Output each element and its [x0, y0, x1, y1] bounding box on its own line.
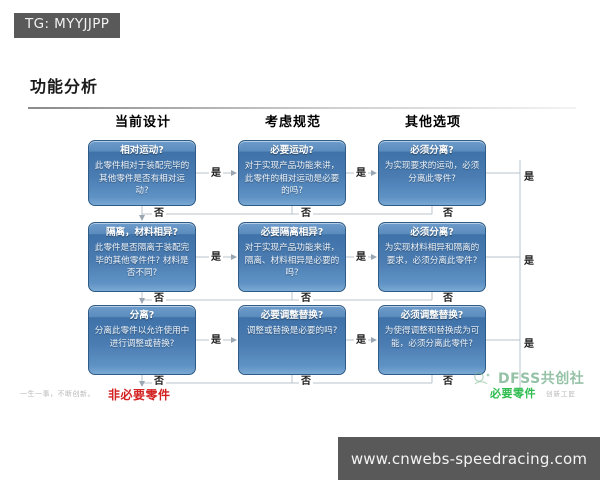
edge-label-yes: 是: [209, 168, 223, 180]
watermark-subtitle: 创新工匠: [546, 388, 576, 398]
box-body: 为使得调整和替换成为可能，必须分离此零件?: [383, 325, 481, 350]
edge-label-no: 否: [441, 376, 455, 388]
decision-box-relative-motion[interactable]: 相对运动? 此零件相对于装配完毕的其他零件是否有相对运动?: [88, 140, 196, 206]
decision-box-separation[interactable]: 分离? 分离此零件以允许使用中进行调整或替换?: [88, 305, 196, 375]
edge-label-no: 否: [152, 208, 166, 220]
edge-label-yes: 是: [522, 172, 536, 184]
decision-box-must-separate-motion[interactable]: 必须分离? 为实现要求的运动，必须分离此零件?: [378, 140, 486, 206]
edge-label-yes: 是: [209, 335, 223, 347]
decision-box-must-adjust-replace[interactable]: 必须调整替换? 为使得调整和替换成为可能，必须分离此零件?: [378, 305, 486, 375]
edge-label-no: 否: [441, 208, 455, 220]
edge-label-no: 否: [441, 293, 455, 305]
box-title: 必要隔离相异?: [243, 226, 341, 240]
edge-label-no: 否: [299, 293, 313, 305]
box-body: 对于实现产品功能来讲，隔离、材料相异是必要的吗?: [243, 242, 341, 280]
outcome-required-part: 必要零件: [490, 385, 536, 401]
box-body: 为实现要求的运动，必须分离此零件?: [383, 160, 481, 185]
box-title: 必须分离?: [383, 226, 481, 240]
box-body: 调整或替换是必要的吗?: [243, 325, 341, 338]
box-title: 分离?: [93, 309, 191, 323]
box-body: 分离此零件以允许使用中进行调整或替换?: [93, 325, 191, 350]
box-title: 必须调整替换?: [383, 309, 481, 323]
box-body: 对于实现产品功能来讲，此零件的相对运动是必要的吗?: [243, 160, 341, 198]
decision-box-necessary-motion[interactable]: 必要运动? 对于实现产品功能来讲，此零件的相对运动是必要的吗?: [238, 140, 346, 206]
edge-label-yes: 是: [522, 256, 536, 268]
footer-slogan: 一生一事，不断创新。: [20, 389, 95, 399]
decision-box-necessary-isolation[interactable]: 必要隔离相异? 对于实现产品功能来讲，隔离、材料相异是必要的吗?: [238, 222, 346, 292]
flowchart-canvas: 相对运动? 此零件相对于装配完毕的其他零件是否有相对运动? 必要运动? 对于实现…: [0, 0, 600, 480]
edge-label-no: 否: [299, 208, 313, 220]
edge-label-no: 否: [299, 376, 313, 388]
edge-label-no: 否: [152, 293, 166, 305]
edge-label-yes: 是: [354, 335, 368, 347]
box-title: 相对运动?: [93, 144, 191, 158]
url-banner: www.cnwebs-speedracing.com: [338, 437, 600, 480]
decision-box-must-separate-material[interactable]: 必须分离? 为实现材料相异和隔离的要求，必须分离此零件?: [378, 222, 486, 292]
edge-label-yes: 是: [522, 339, 536, 351]
box-title: 隔离，材料相异?: [93, 226, 191, 240]
decision-box-necessary-adjust-replace[interactable]: 必要调整替换? 调整或替换是必要的吗?: [238, 305, 346, 375]
box-body: 此零件相对于装配完毕的其他零件是否有相对运动?: [93, 160, 191, 198]
edge-label-yes: 是: [209, 252, 223, 264]
box-title: 必要调整替换?: [243, 309, 341, 323]
box-body: 此零件是否隔离于装配完毕的其他零件件? 材料是否不同?: [93, 242, 191, 280]
edge-label-yes: 是: [354, 252, 368, 264]
box-body: 为实现材料相异和隔离的要求，必须分离此零件?: [383, 242, 481, 267]
edge-label-yes: 是: [354, 168, 368, 180]
box-title: 必要运动?: [243, 144, 341, 158]
outcome-not-required-part: 非必要零件: [108, 386, 171, 403]
decision-box-isolation-material[interactable]: 隔离，材料相异? 此零件是否隔离于装配完毕的其他零件件? 材料是否不同?: [88, 222, 196, 292]
box-title: 必须分离?: [383, 144, 481, 158]
